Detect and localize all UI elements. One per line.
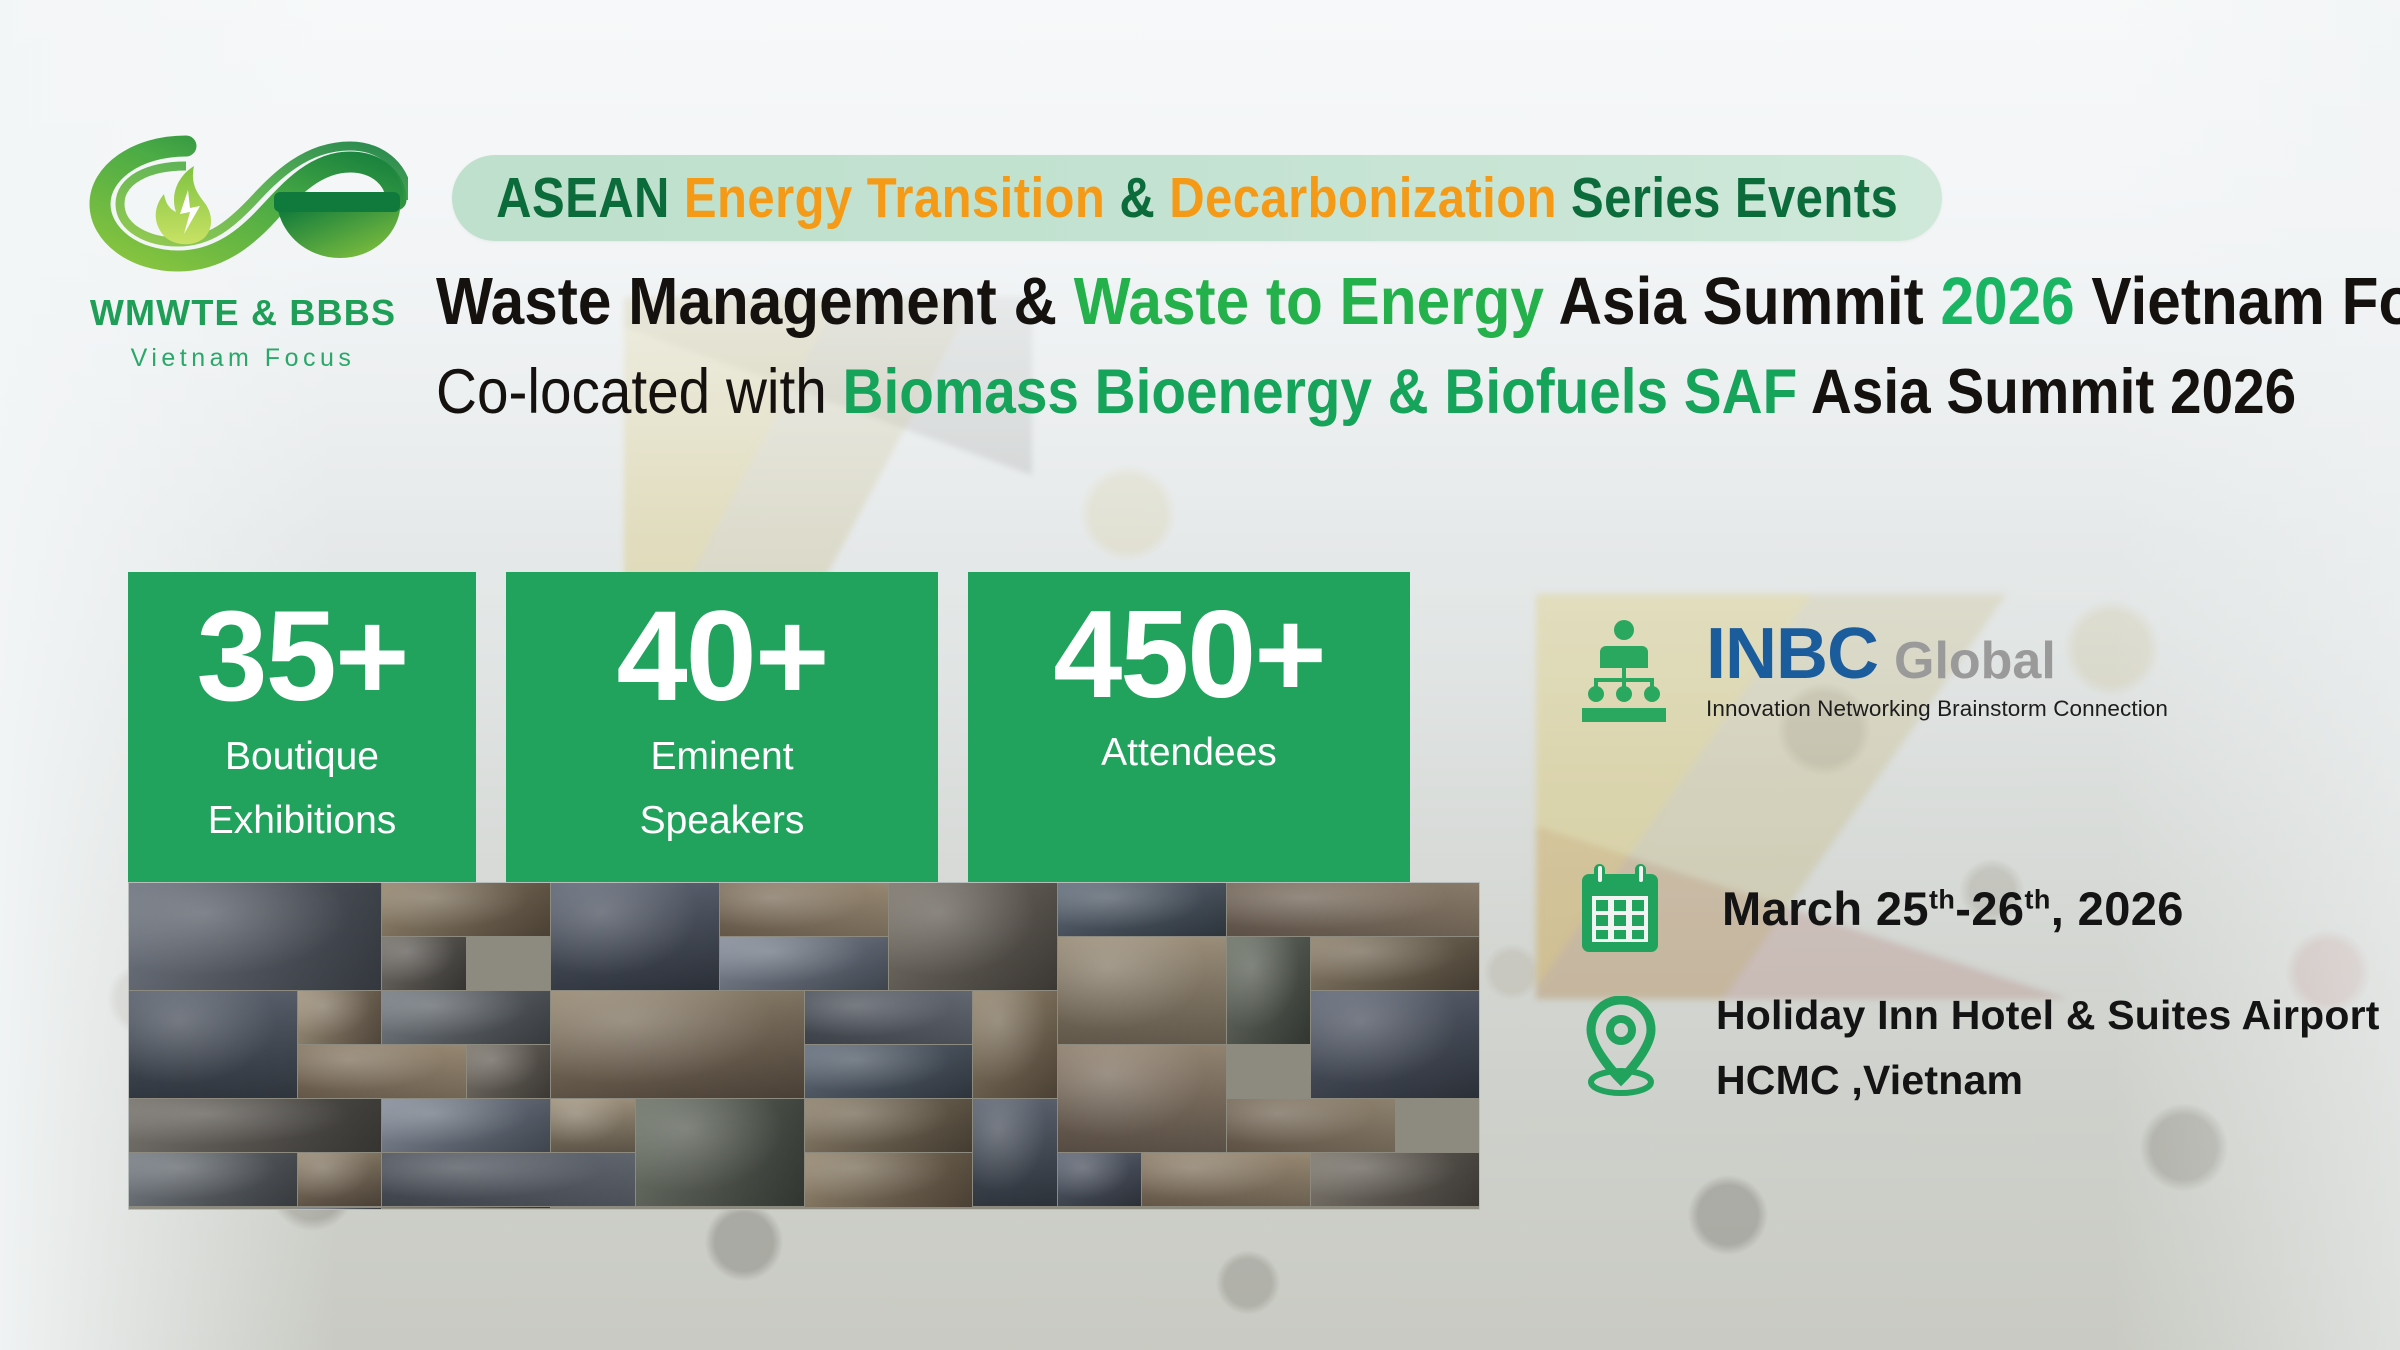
stat-label: EminentSpeakers (640, 734, 805, 842)
headline-secondary: Co-located with Biomass Bioenergy & Biof… (436, 361, 2173, 424)
collage-photo (1058, 937, 1226, 1044)
logo-name: WMWTE & BBBS (78, 292, 408, 334)
collage-photo (298, 1153, 381, 1206)
headline-primary: Waste Management & Waste to Energy Asia … (436, 268, 2173, 335)
collage-photo (1227, 1099, 1395, 1152)
collage-photo (1058, 1153, 1141, 1206)
collage-photo (1227, 937, 1310, 1044)
collage-photo (1311, 991, 1479, 1098)
collage-photo (467, 1045, 550, 1098)
collage-photo (720, 883, 888, 936)
collage-photo (805, 991, 973, 1044)
collage-photo (382, 883, 550, 936)
stat-label-line1: Eminent (650, 735, 793, 778)
series-part-amp: & (1119, 166, 1169, 230)
headline2-bbbs: Biomass Bioenergy & Biofuels SAF (843, 357, 1798, 427)
collage-photo (382, 937, 465, 990)
series-events-pill: ASEAN Energy Transition & Decarbonizatio… (452, 155, 1942, 241)
organizer-name-main: INBC (1706, 618, 1878, 690)
venue-block: Holiday Inn Hotel & Suites Airport HCMC … (1578, 992, 2380, 1104)
headline1-waste-to-energy: Waste to Energy (1074, 264, 1544, 339)
collage-photo (382, 1153, 634, 1206)
infinity-leaf-flame-logo-icon (78, 118, 408, 278)
collage-photo (1311, 1153, 1479, 1206)
series-part-asean: ASEAN (496, 166, 684, 230)
conference-photo-collage (128, 882, 1480, 1210)
organizer-tagline: Innovation Networking Brainstorm Connect… (1706, 696, 2168, 722)
collage-photo (636, 1099, 804, 1206)
date-year: , 2026 (2051, 882, 2184, 935)
statistics-row: 35+ BoutiqueExhibitions 40+ EminentSpeak… (128, 572, 1410, 894)
date-month: March (1722, 882, 1876, 935)
collage-photo (805, 1153, 973, 1207)
stat-label: BoutiqueExhibitions (208, 734, 397, 842)
organizer-name-secondary: Global (1894, 635, 2056, 687)
stat-label-line1: Boutique (225, 735, 379, 778)
headline2-asia-summit: Asia Summit 2026 (1797, 357, 2296, 427)
collage-photo (129, 1153, 297, 1206)
collage-photo (382, 1099, 550, 1152)
date-dash: - (1955, 882, 1971, 935)
collage-photo (973, 1099, 1056, 1206)
collage-photo (1227, 883, 1479, 936)
collage-photo (551, 991, 803, 1098)
stat-number: 35+ (196, 590, 407, 724)
stat-box-speakers: 40+ EminentSpeakers (506, 572, 938, 882)
collage-photo (805, 1045, 973, 1098)
stat-label-line2: Exhibitions (208, 798, 397, 843)
stat-box-exhibitions: 35+ BoutiqueExhibitions (128, 572, 476, 894)
organizer-name: INBC Global (1706, 618, 2168, 690)
collage-photo (298, 991, 381, 1044)
stat-label-line2: Speakers (640, 798, 805, 843)
collage-photo (129, 883, 381, 990)
event-date-text: March 25th-26th, 2026 (1722, 881, 2184, 936)
collage-photo (129, 1099, 381, 1152)
collage-photo (1058, 883, 1226, 936)
date-day-end: 26 (1971, 882, 2024, 935)
date-day-start-ord: th (1929, 884, 1955, 914)
collage-photo (720, 937, 888, 990)
stat-label-line1: Attendees (1101, 731, 1277, 774)
collage-photo (551, 1099, 634, 1152)
collage-photo (805, 1099, 973, 1152)
calendar-icon (1578, 862, 1662, 954)
date-day-end-ord: th (2024, 884, 2050, 914)
venue-line-2: HCMC ,Vietnam (1716, 1057, 2380, 1104)
headline1-waste-management: Waste Management & (436, 264, 1074, 339)
headline1-asia-summit: Asia Summit (1544, 264, 1941, 339)
venue-line-1: Holiday Inn Hotel & Suites Airport (1716, 992, 2380, 1039)
organizer-block: INBC Global Innovation Networking Brains… (1578, 618, 2168, 722)
stat-label: Attendees (1101, 730, 1277, 775)
collage-photo (382, 991, 550, 1044)
stat-box-attendees: 450+ Attendees (968, 572, 1410, 882)
series-part-decarb: Decarbonization (1169, 166, 1571, 230)
series-part-events: Series Events (1571, 166, 1898, 230)
collage-photo (382, 1207, 550, 1208)
collage-photo (551, 883, 719, 990)
logo-subtitle: Vietnam Focus (78, 344, 408, 373)
series-part-energy: Energy Transition (684, 166, 1119, 230)
headline2-colocated: Co-located with (436, 357, 843, 427)
venue-text: Holiday Inn Hotel & Suites Airport HCMC … (1716, 992, 2380, 1104)
collage-photo (1058, 1045, 1226, 1152)
collage-photo (129, 991, 297, 1098)
organizer-text: INBC Global Innovation Networking Brains… (1706, 618, 2168, 722)
event-date-block: March 25th-26th, 2026 (1578, 862, 2184, 954)
event-logo: WMWTE & BBBS Vietnam Focus (78, 118, 408, 373)
collage-photo (298, 1045, 466, 1098)
people-network-icon (1578, 618, 1670, 722)
collage-photo (1142, 1153, 1310, 1206)
stat-number: 40+ (616, 590, 827, 724)
collage-photo (889, 883, 1057, 990)
event-banner: WMWTE & BBBS Vietnam Focus ASEAN Energy … (0, 0, 2400, 1350)
headline-block: Waste Management & Waste to Energy Asia … (436, 268, 2366, 424)
date-day-start: 25 (1876, 882, 1929, 935)
location-pin-icon (1578, 996, 1664, 1096)
collage-photo (973, 991, 1056, 1098)
stat-number: 450+ (1053, 590, 1324, 720)
headline1-year: 2026 (1940, 264, 2074, 339)
collage-photo (1311, 937, 1479, 990)
headline1-vietnam-focus: Vietnam Focus (2075, 264, 2400, 339)
series-events-text: ASEAN Energy Transition & Decarbonizatio… (496, 165, 1898, 231)
collage-photo (298, 1208, 381, 1209)
